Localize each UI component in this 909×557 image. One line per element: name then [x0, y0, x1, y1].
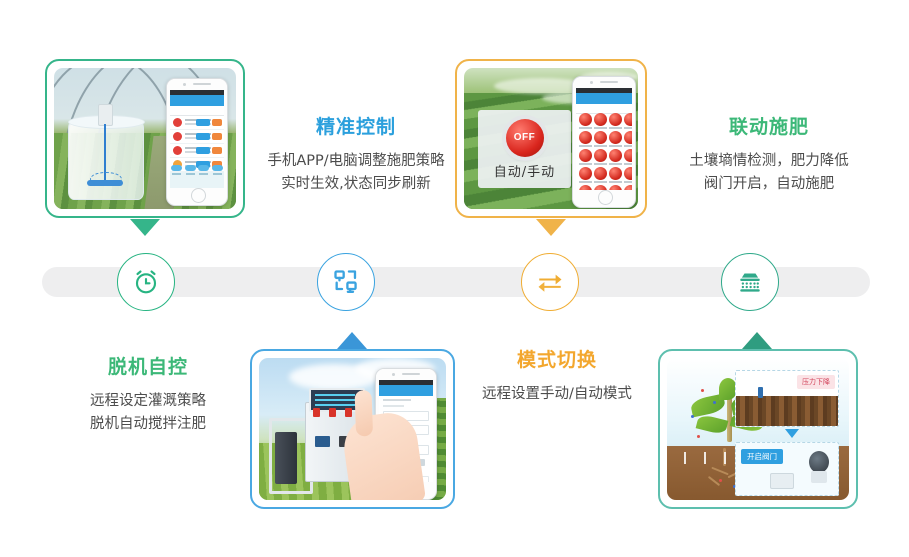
line-linked-fertilization-2: 阀门开启，自动施肥: [672, 173, 866, 196]
line-precise-control-2: 实时生效,状态同步刷新: [263, 173, 449, 196]
card-fertigation-machine[interactable]: [250, 349, 455, 509]
heading-precise-control: 精准控制: [263, 112, 449, 139]
arrow-down-card-greenhouse: [130, 219, 160, 236]
open-valve-label: 开启阀门: [741, 449, 783, 464]
node-alarm-clock[interactable]: [117, 253, 175, 311]
greenhouse-photo: [54, 68, 236, 209]
soil-valve-illustration: 压力下降 开启阀门: [667, 358, 849, 500]
open-valve-panel: 开启阀门: [735, 442, 839, 496]
heading-mode-switch: 模式切换: [462, 345, 652, 372]
infographic-canvas: OFF 自动/手动: [0, 0, 909, 557]
flow-arrow-icon: [785, 429, 799, 438]
heading-linked-fertilization: 联动施肥: [672, 112, 866, 139]
line-offline-auto-control-2: 脱机自动搅拌注肥: [55, 413, 241, 436]
node-exchange-arrows[interactable]: [521, 253, 579, 311]
phone-mockup: [166, 78, 228, 206]
card-soil-moisture-valve[interactable]: 压力下降 开启阀门: [658, 349, 858, 509]
heading-offline-auto-control: 脱机自控: [55, 352, 241, 379]
node-network-devices[interactable]: [317, 253, 375, 311]
arrow-up-card-machine: [337, 332, 367, 349]
pressure-drop-label: 压力下降: [797, 375, 835, 389]
text-block-linked-fertilization: 联动施肥 土壤墒情检测，肥力降低 阀门开启，自动施肥: [672, 112, 866, 197]
line-precise-control-1: 手机APP/电脑调整施肥策略: [263, 150, 449, 173]
arrow-up-card-soil: [742, 332, 772, 349]
card-greenhouse-mixer[interactable]: [45, 59, 245, 218]
sprinkler-icon: [735, 267, 765, 297]
card-tea-field-auto-manual[interactable]: OFF 自动/手动: [455, 59, 647, 218]
arrow-down-card-tea-field: [536, 219, 566, 236]
auto-manual-panel: OFF 自动/手动: [478, 110, 571, 188]
mixing-tank: [68, 120, 144, 200]
text-block-mode-switch: 模式切换 远程设置手动/自动模式: [462, 345, 652, 406]
line-mode-switch-1: 远程设置手动/自动模式: [462, 383, 652, 406]
soil-sensor-panel: 压力下降: [735, 370, 839, 427]
node-sprinkler[interactable]: [721, 253, 779, 311]
off-button[interactable]: OFF: [506, 119, 544, 157]
text-block-precise-control: 精准控制 手机APP/电脑调整施肥策略 实时生效,状态同步刷新: [263, 112, 449, 197]
auto-manual-label: 自动/手动: [494, 161, 555, 180]
alarm-clock-icon: [131, 267, 161, 297]
tea-field-photo: OFF 自动/手动: [464, 68, 638, 209]
text-block-offline-auto-control: 脱机自控 远程设定灌溉策略 脱机自动搅拌注肥: [55, 352, 241, 437]
phone-mockup-valves: [572, 76, 636, 208]
fertigation-machine-photo: [259, 358, 446, 500]
line-offline-auto-control-1: 远程设定灌溉策略: [55, 390, 241, 413]
line-linked-fertilization-1: 土壤墒情检测，肥力降低: [672, 150, 866, 173]
network-devices-icon: [332, 268, 360, 296]
exchange-arrows-icon: [535, 267, 565, 297]
